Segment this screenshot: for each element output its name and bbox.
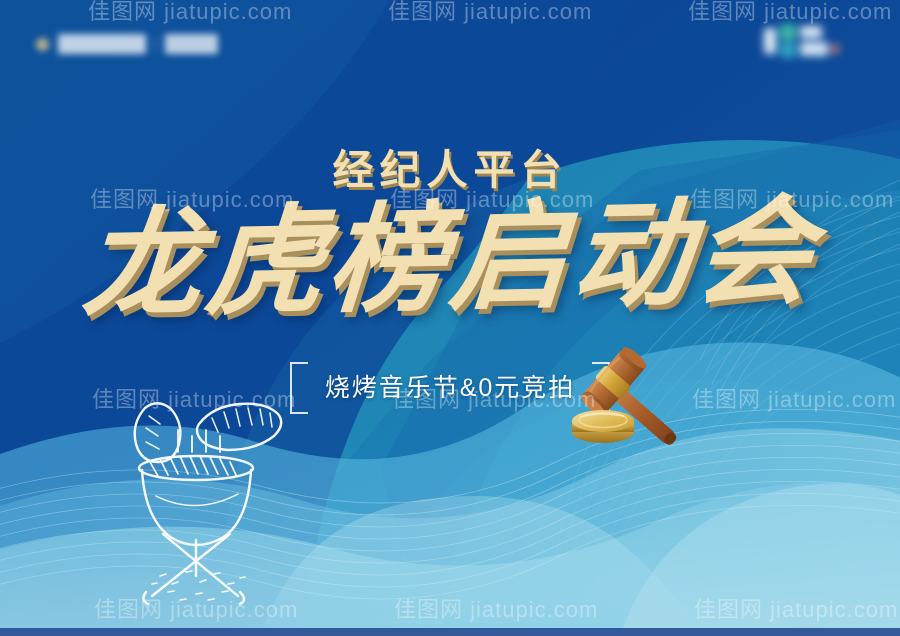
page-subtitle: 烧烤音乐节&0元竞拍 [290,362,610,410]
brand-mark-icon [36,38,49,51]
logo-divider [155,37,156,52]
brand-logo-right [762,22,848,64]
page-title: 龙虎榜启动会 [0,187,900,328]
brand-subwordmark: 龙虎榜 [165,34,218,54]
brand-wordmark: 经纪人平台 [58,34,146,54]
brand-logo-left: 经纪人平台 龙虎榜 [36,34,218,54]
subtitle-frame: 烧烤音乐节&0元竞拍 [290,362,610,410]
poster-canvas: 经纪人平台 龙虎榜 经纪人平台 龙虎榜启动会 烧烤音乐节&0元竞拍 [0,0,900,636]
